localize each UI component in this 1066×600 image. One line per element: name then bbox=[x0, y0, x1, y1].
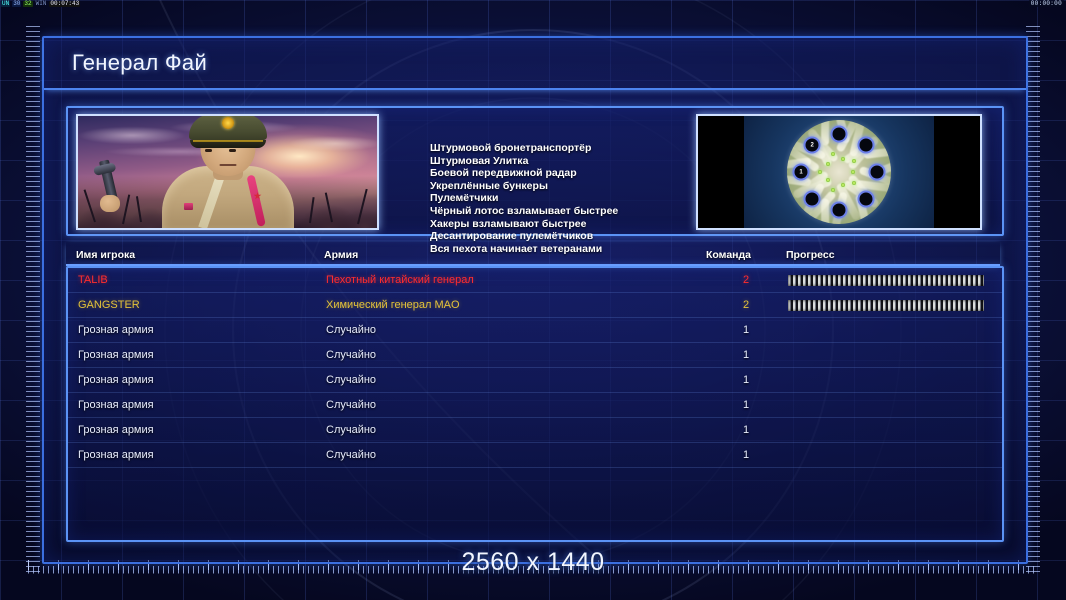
map-supply-point bbox=[841, 157, 845, 161]
hud-overlay-left: UN 30 32 WIN 00:07:43 bbox=[1, 0, 80, 8]
column-header-progress: Прогресс bbox=[786, 249, 835, 261]
window-titlebar: Генерал Фай bbox=[44, 38, 1026, 90]
table-row[interactable]: Грозная армияСлучайно1 bbox=[68, 343, 1002, 368]
cell-progress bbox=[788, 450, 984, 461]
cell-player-name: Грозная армия bbox=[78, 374, 154, 386]
cell-player-name: Грозная армия bbox=[78, 349, 154, 361]
progress-bar bbox=[788, 300, 984, 311]
map-spawn-point bbox=[857, 137, 874, 154]
column-header-player: Имя игрока bbox=[76, 249, 135, 261]
cell-team[interactable]: 1 bbox=[733, 324, 759, 336]
hud-chip-1: 30 bbox=[12, 1, 21, 7]
cell-army[interactable]: Случайно bbox=[326, 324, 376, 336]
cell-army[interactable]: Случайно bbox=[326, 374, 376, 386]
map-supply-point bbox=[818, 170, 822, 174]
progress-bar bbox=[788, 275, 984, 286]
game-lobby-screen: UN 30 32 WIN 00:07:43 00:00:00 Генерал Ф… bbox=[0, 0, 1066, 600]
hud-timer: 00:00:00 bbox=[1029, 0, 1064, 7]
hud-chip-2: 32 bbox=[23, 1, 32, 7]
cell-army[interactable]: Случайно bbox=[326, 399, 376, 411]
hud-chip-4: 00:07:43 bbox=[49, 1, 80, 7]
cell-player-name: Грозная армия bbox=[78, 324, 154, 336]
cell-army[interactable]: Пехотный китайский генерал bbox=[326, 274, 474, 286]
map-supply-point bbox=[851, 170, 855, 174]
cell-player-name: Грозная армия bbox=[78, 449, 154, 461]
cell-army[interactable]: Случайно bbox=[326, 449, 376, 461]
map-spawn-point bbox=[857, 190, 874, 207]
cell-player-name: GANGSTER bbox=[78, 299, 140, 311]
cell-player-name: Грозная армия bbox=[78, 424, 154, 436]
cell-progress bbox=[788, 300, 984, 311]
table-row[interactable]: Грозная армияСлучайно1 bbox=[68, 393, 1002, 418]
map-spawn-point bbox=[831, 126, 848, 143]
cell-team[interactable]: 1 bbox=[733, 374, 759, 386]
map-supply-point bbox=[831, 188, 835, 192]
map-spawn-point: 1 bbox=[793, 164, 810, 181]
general-info-panel: Штурмовой бронетранспортёр Штурмовая Ули… bbox=[66, 106, 1004, 236]
cell-team[interactable]: 1 bbox=[733, 349, 759, 361]
map-supply-point bbox=[826, 162, 830, 166]
table-row[interactable]: Грозная армияСлучайно1 bbox=[68, 368, 1002, 393]
map-letterbox-left bbox=[698, 116, 744, 228]
ruler-left bbox=[26, 26, 40, 574]
map-disc: 12 bbox=[787, 120, 891, 224]
hud-chip-0: UN bbox=[1, 1, 10, 7]
cell-team[interactable]: 1 bbox=[733, 449, 759, 461]
cell-progress bbox=[788, 400, 984, 411]
cell-progress bbox=[788, 350, 984, 361]
column-header-team: Команда bbox=[706, 249, 751, 261]
table-row[interactable]: TALIBПехотный китайский генерал2 bbox=[68, 268, 1002, 293]
table-row[interactable]: Грозная армияСлучайно1 bbox=[68, 318, 1002, 343]
cell-progress bbox=[788, 275, 984, 286]
map-letterbox-right bbox=[934, 116, 980, 228]
map-spawn-point bbox=[869, 164, 886, 181]
map-spawn-point bbox=[804, 190, 821, 207]
player-table-body: TALIBПехотный китайский генерал2GANGSTER… bbox=[66, 266, 1004, 542]
cell-army[interactable]: Случайно bbox=[326, 349, 376, 361]
map-spawn-point: 2 bbox=[804, 137, 821, 154]
map-supply-point bbox=[841, 183, 845, 187]
map-preview[interactable]: 12 bbox=[696, 114, 982, 230]
map-supply-point bbox=[831, 152, 835, 156]
cell-team[interactable]: 2 bbox=[733, 274, 759, 286]
cell-progress bbox=[788, 375, 984, 386]
ability-item: Десантирование пулемётчиков bbox=[430, 230, 760, 243]
cell-team[interactable]: 2 bbox=[733, 299, 759, 311]
map-terrain-ridge bbox=[821, 199, 829, 224]
map-supply-point bbox=[852, 181, 856, 185]
table-row[interactable]: GANGSTERХимический генерал MAO2 bbox=[68, 293, 1002, 318]
table-row[interactable]: Грозная армияСлучайно1 bbox=[68, 418, 1002, 443]
cell-player-name: Грозная армия bbox=[78, 399, 154, 411]
map-spawn-point bbox=[831, 202, 848, 219]
ruler-bottom-minor bbox=[28, 566, 1038, 580]
cell-player-name: TALIB bbox=[78, 274, 108, 286]
hud-chip-3: WIN bbox=[35, 1, 48, 7]
cell-team[interactable]: 1 bbox=[733, 399, 759, 411]
player-table-header: Имя игрока Армия Команда Прогресс bbox=[66, 242, 1000, 266]
general-portrait bbox=[76, 114, 379, 230]
cell-army[interactable]: Случайно bbox=[326, 424, 376, 436]
lobby-window: Генерал Фай bbox=[42, 36, 1028, 564]
page-title: Генерал Фай bbox=[72, 50, 207, 76]
table-row[interactable]: Грозная армияСлучайно1 bbox=[68, 443, 1002, 468]
cell-team[interactable]: 1 bbox=[733, 424, 759, 436]
cell-progress bbox=[788, 325, 984, 336]
map-supply-point bbox=[826, 178, 830, 182]
ruler-right bbox=[1026, 26, 1040, 574]
map-supply-point bbox=[852, 159, 856, 163]
column-header-army: Армия bbox=[324, 249, 358, 261]
cell-army[interactable]: Химический генерал MAO bbox=[326, 299, 460, 311]
cell-progress bbox=[788, 425, 984, 436]
